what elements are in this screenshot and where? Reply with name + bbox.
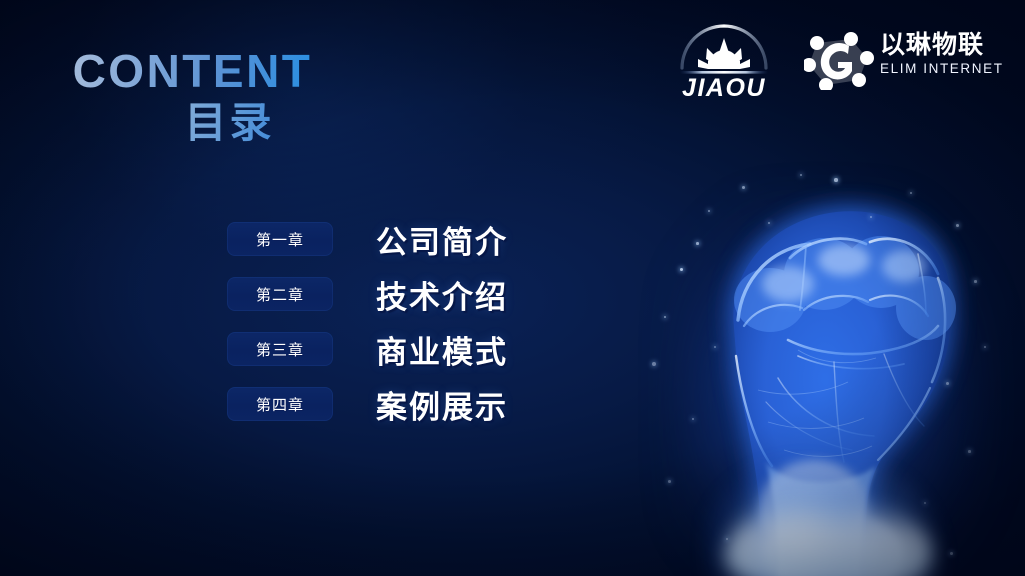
chapter-badge-1[interactable]: 第一章 [227, 222, 333, 256]
slide-heading: CONTENT 目录 [0, 48, 385, 144]
toc-item-title: 案例展示 [376, 382, 508, 427]
table-of-contents: 第一章 公司简介 第二章 技术介绍 第三章 商业模式 第四章 案例展示 [227, 222, 508, 442]
toc-item-4[interactable]: 第四章 案例展示 [227, 387, 508, 421]
jiaou-logo: JIAOU [672, 22, 776, 100]
chapter-badge-4[interactable]: 第四章 [227, 387, 333, 421]
jiaou-wordmark: JIAOU [682, 74, 766, 102]
chapter-badge-label: 第四章 [256, 394, 304, 415]
chapter-badge-3[interactable]: 第三章 [227, 332, 333, 366]
elim-logo-text: 以琳物联 ELIM INTERNET [880, 32, 996, 76]
chapter-badge-label: 第三章 [256, 339, 304, 360]
elim-chinese-name: 以琳物联 [880, 32, 996, 59]
elim-logo-mark [804, 32, 874, 90]
chapter-badge-2[interactable]: 第二章 [227, 277, 333, 311]
toc-item-title: 公司简介 [376, 217, 508, 262]
presentation-slide: CONTENT 目录 [0, 0, 1025, 576]
toc-item-2[interactable]: 第二章 技术介绍 [227, 277, 508, 311]
toc-item-title: 技术介绍 [376, 272, 508, 317]
toc-item-title: 商业模式 [376, 327, 508, 372]
elim-english-name: ELIM INTERNET [880, 61, 996, 76]
chapter-badge-label: 第一章 [256, 229, 304, 250]
heading-chinese: 目录 [74, 102, 385, 144]
chapter-badge-label: 第二章 [256, 284, 304, 305]
heading-english: CONTENT [0, 48, 385, 94]
toc-item-1[interactable]: 第一章 公司简介 [227, 222, 508, 256]
elim-logo: 以琳物联 ELIM INTERNET [804, 32, 994, 92]
toc-item-3[interactable]: 第三章 商业模式 [227, 332, 508, 366]
